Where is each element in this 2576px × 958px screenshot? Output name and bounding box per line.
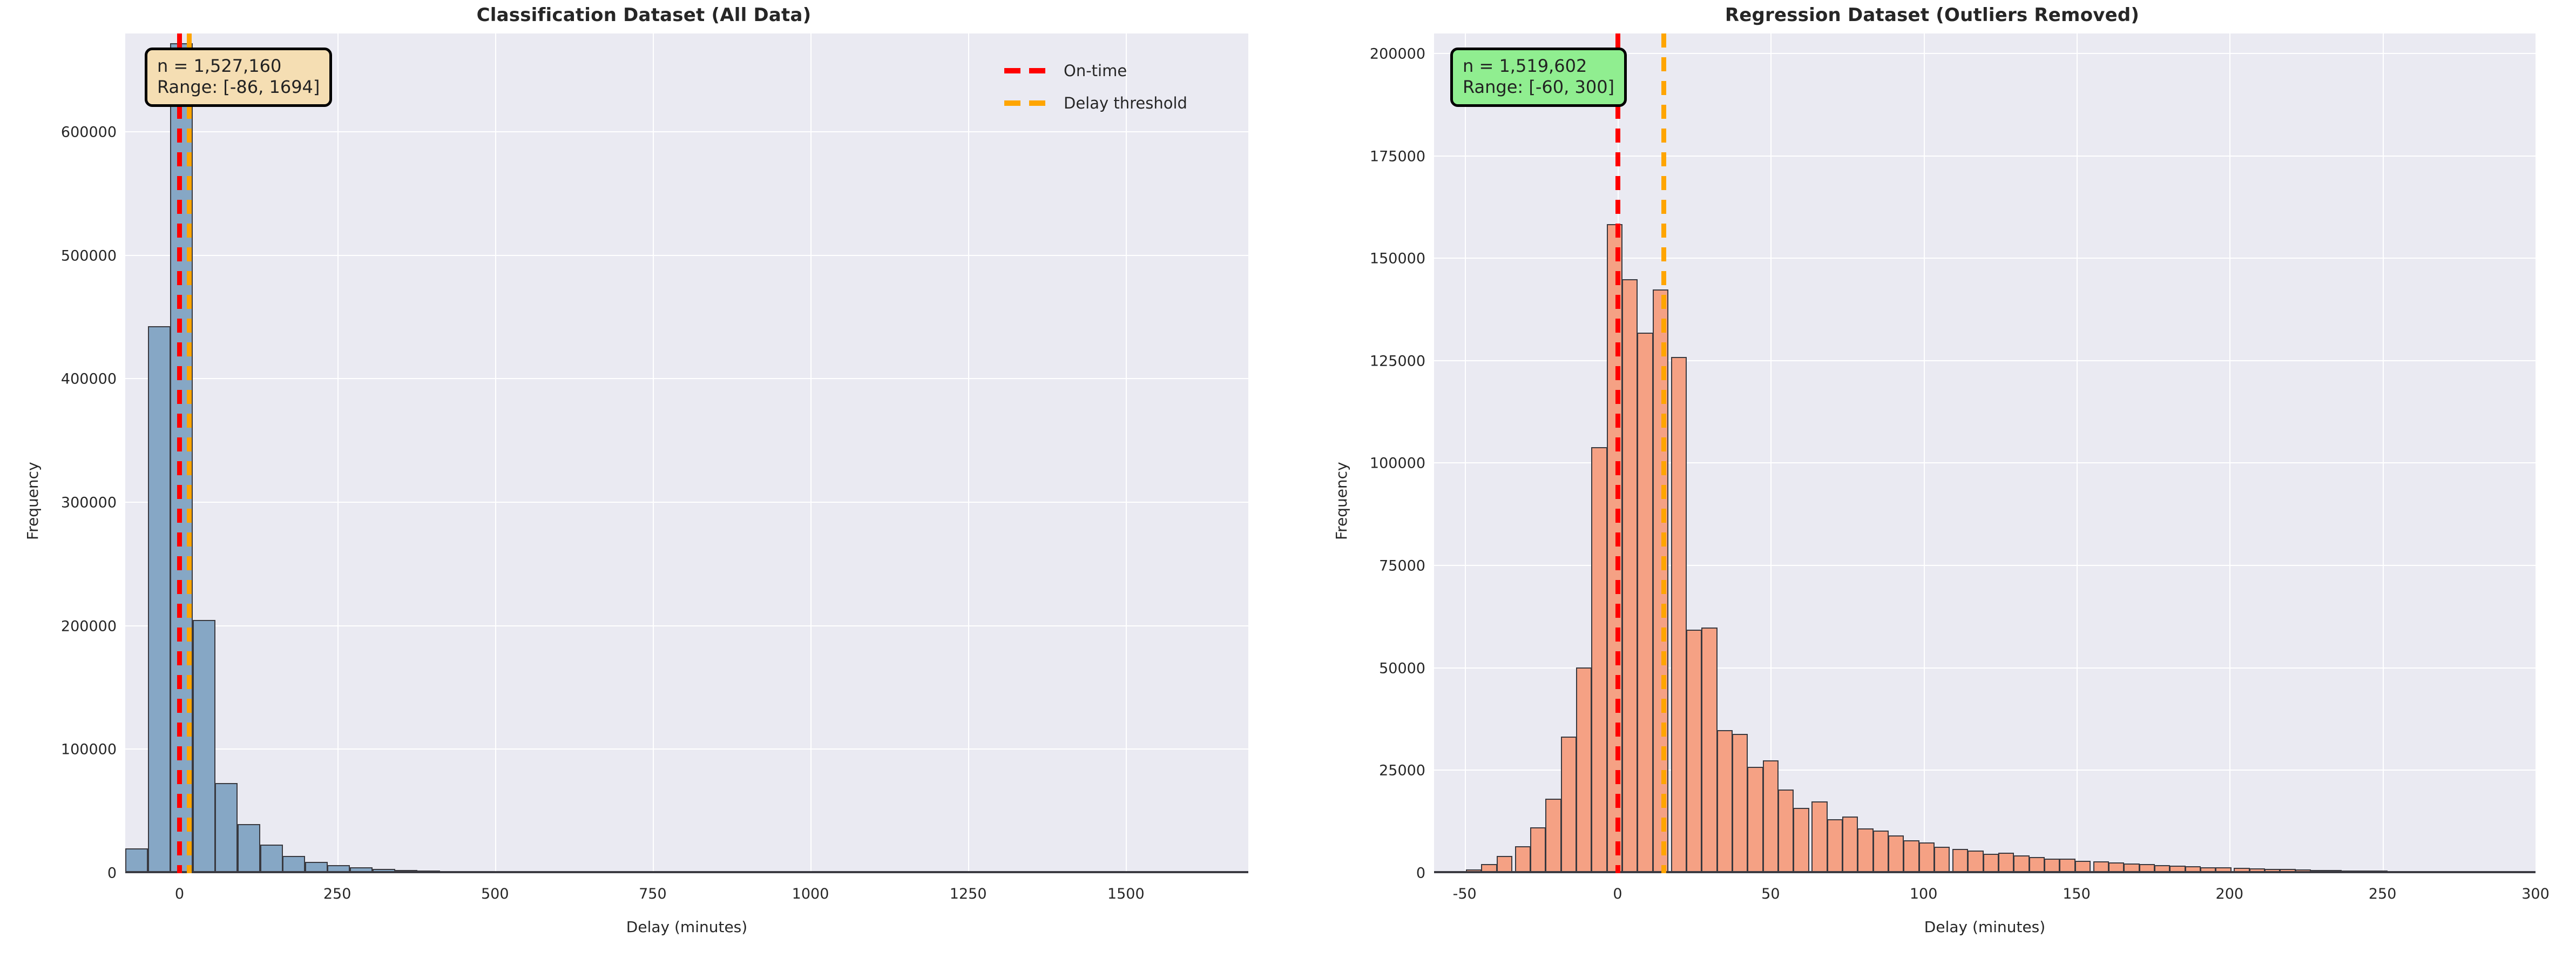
y-tick-label: 400000 <box>61 371 117 388</box>
panel-regression: Regression Dataset (Outliers Removed) 02… <box>1288 0 2576 958</box>
y-tick-label: 300000 <box>61 494 117 511</box>
histogram-bar <box>260 845 283 873</box>
histogram-bar <box>1811 801 1827 873</box>
x-tick-label: 250 <box>2369 886 2397 902</box>
histogram-bar <box>1530 827 1546 873</box>
histogram-bar <box>238 824 260 873</box>
histogram-bar <box>1778 790 1794 874</box>
figure-histograms-comparison: Classification Dataset (All Data) 010000… <box>0 0 2576 958</box>
x-tick-label: 200 <box>2216 886 2244 902</box>
histogram-bar <box>1968 851 1983 873</box>
histogram-bar <box>1763 760 1779 873</box>
legend-item-on-time: On-time <box>1004 62 1187 80</box>
x-tick-label: 1500 <box>1107 886 1145 902</box>
histogram-bar <box>1561 737 1577 873</box>
histogram-bar <box>1717 730 1733 873</box>
histogram-bar <box>1576 667 1592 873</box>
y-axis-ticks-classification: 0100000200000300000400000500000600000 <box>4 33 117 873</box>
histogram-bar <box>1842 817 1858 873</box>
histogram-bar <box>1622 279 1638 873</box>
histogram-bar <box>1515 846 1531 873</box>
histogram-bar <box>1903 840 1919 873</box>
x-tick-label: -50 <box>1453 886 1477 902</box>
x-tick-label: 250 <box>323 886 351 902</box>
annotation-box-classification: n = 1,527,160 Range: [-86, 1694] <box>145 48 332 107</box>
y-tick-label: 100000 <box>1370 455 1425 472</box>
gridline-vertical <box>2536 33 2537 873</box>
histogram-bar <box>148 326 171 873</box>
histogram-bar <box>1793 808 1809 873</box>
y-tick-label: 500000 <box>61 247 117 264</box>
plot-area-classification <box>125 33 1248 873</box>
x-tick-label: 500 <box>481 886 509 902</box>
histogram-bars-classification <box>125 33 1248 873</box>
x-tick-label: 750 <box>639 886 667 902</box>
histogram-bars-regression <box>1434 33 2536 873</box>
histogram-bar <box>1653 289 1668 873</box>
dashed-line-red-icon <box>1004 68 1052 73</box>
reference-line-on-time <box>177 33 182 873</box>
page-title-regression: Regression Dataset (Outliers Removed) <box>1288 4 2576 26</box>
histogram-bar <box>1671 357 1687 873</box>
histogram-bar <box>1952 849 1968 874</box>
histogram-bar <box>1873 831 1889 873</box>
y-axis-label-classification: Frequency <box>24 462 42 540</box>
y-tick-label: 25000 <box>1379 763 1425 779</box>
y-tick-label: 200000 <box>1370 45 1425 62</box>
histogram-bar <box>1888 835 1904 873</box>
x-axis-spine-regression <box>1434 871 2536 873</box>
x-axis-spine-classification <box>125 871 1248 873</box>
dashed-line-orange-icon <box>1004 100 1052 106</box>
histogram-bar <box>1545 799 1561 873</box>
y-axis-ticks-regression: 0250005000075000100000125000150000175000… <box>1311 33 1425 873</box>
y-tick-label: 200000 <box>61 618 117 635</box>
histogram-bar <box>1983 854 1999 873</box>
histogram-bar <box>1607 224 1622 873</box>
x-tick-label: 0 <box>175 886 184 902</box>
histogram-bar <box>2013 855 2029 873</box>
y-tick-label: 125000 <box>1370 353 1425 369</box>
x-tick-label: 300 <box>2521 886 2550 902</box>
histogram-bar <box>1591 447 1607 873</box>
histogram-bar <box>1827 819 1843 873</box>
y-tick-label: 50000 <box>1379 660 1425 677</box>
legend-label-delay-threshold: Delay threshold <box>1064 94 1187 112</box>
legend-label-on-time: On-time <box>1064 62 1127 80</box>
y-tick-label: 0 <box>1416 865 1425 882</box>
legend-classification: On-time Delay threshold <box>993 54 1198 120</box>
y-tick-label: 75000 <box>1379 558 1425 575</box>
x-tick-label: 1000 <box>792 886 829 902</box>
reference-line-delay-threshold <box>1661 33 1666 873</box>
histogram-bar <box>193 620 215 873</box>
histogram-bar <box>215 783 238 873</box>
legend-item-delay-threshold: Delay threshold <box>1004 94 1187 112</box>
histogram-bar <box>1637 333 1653 873</box>
x-tick-label: 100 <box>1910 886 1938 902</box>
histogram-bar <box>1747 767 1763 873</box>
page-title-classification: Classification Dataset (All Data) <box>0 4 1288 26</box>
x-tick-label: 150 <box>2063 886 2091 902</box>
histogram-bar <box>1686 630 1702 873</box>
y-tick-label: 100000 <box>61 741 117 758</box>
histogram-bar <box>1919 842 1935 873</box>
histogram-bar <box>1732 734 1748 873</box>
x-tick-label: 50 <box>1761 886 1780 902</box>
reference-line-on-time <box>1615 33 1620 873</box>
histogram-bar <box>1857 828 1873 873</box>
histogram-bar <box>1998 853 2014 873</box>
x-tick-label: 1250 <box>950 886 987 902</box>
reference-line-delay-threshold <box>187 33 192 873</box>
x-axis-label-classification: Delay (minutes) <box>125 918 1248 936</box>
x-tick-label: 0 <box>1613 886 1622 902</box>
histogram-bar <box>1701 628 1717 873</box>
x-axis-label-regression: Delay (minutes) <box>1434 918 2536 936</box>
plot-area-regression <box>1434 33 2536 873</box>
annotation-box-regression: n = 1,519,602 Range: [-60, 300] <box>1450 48 1627 107</box>
histogram-bar <box>1934 847 1950 873</box>
y-tick-label: 150000 <box>1370 251 1425 267</box>
histogram-bar <box>125 848 148 873</box>
y-tick-label: 0 <box>107 865 117 882</box>
y-tick-label: 600000 <box>61 124 117 140</box>
panel-classification: Classification Dataset (All Data) 010000… <box>0 0 1288 958</box>
y-axis-label-regression: Frequency <box>1333 462 1350 540</box>
y-tick-label: 175000 <box>1370 148 1425 165</box>
